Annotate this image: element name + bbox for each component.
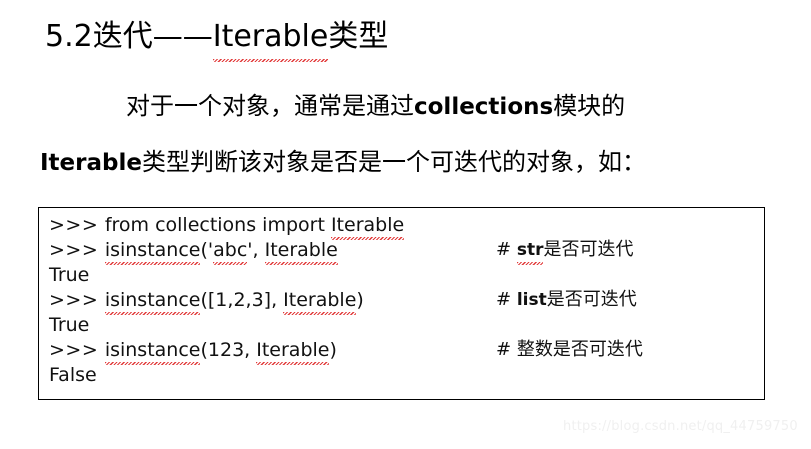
code-comment: # list是否可迭代 bbox=[496, 288, 637, 312]
code-comment: # str是否可迭代 bbox=[496, 238, 633, 262]
code-segment: ) bbox=[329, 339, 336, 361]
code-segment: (123, bbox=[200, 339, 256, 361]
code-segment-iterable: Iterable bbox=[256, 338, 329, 362]
page-title: 5.2迭代——Iterable类型 bbox=[45, 14, 388, 59]
code-segment-iterable: Iterable bbox=[283, 288, 356, 312]
comment-hash: # bbox=[496, 339, 511, 360]
page-title-segment-han-suffix: 类型 bbox=[328, 19, 388, 54]
code-segment-iterable: Iterable bbox=[265, 238, 338, 262]
body-line1-suffix: 模块的 bbox=[553, 92, 625, 120]
watermark: https://blog.csdn.net/qq_44759750 bbox=[563, 419, 798, 434]
comment-han-text: 整数是否可迭代 bbox=[517, 339, 643, 360]
code-prompt: >>> bbox=[49, 339, 105, 361]
code-output-true: True bbox=[49, 314, 89, 336]
code-segment-isinstance: isinstance bbox=[105, 288, 201, 312]
code-segment-iterable: Iterable bbox=[331, 213, 404, 237]
code-line: >>> isinstance(123, Iterable) bbox=[49, 338, 337, 362]
code-line: >>> isinstance('abc', Iterable bbox=[49, 238, 338, 262]
comment-keyword-str: str bbox=[517, 238, 544, 262]
page-title-segment-iterable: Iterable bbox=[213, 15, 329, 59]
comment-hash: # bbox=[496, 289, 511, 310]
body-line2-suffix: 类型判断该对象是否是一个可迭代的对象，如： bbox=[142, 148, 646, 176]
comment-keyword-list: list bbox=[517, 290, 547, 310]
comment-han-text: 是否可迭代 bbox=[543, 239, 633, 260]
code-line: >>> isinstance([1,2,3], Iterable) bbox=[49, 288, 364, 312]
code-segment: (' bbox=[200, 239, 213, 261]
code-segment: ', bbox=[247, 239, 264, 261]
code-prompt: >>> bbox=[49, 214, 105, 236]
page-title-segment-han-prefix: 迭代—— bbox=[93, 19, 213, 54]
code-block: >>> from collections import Iterable >>>… bbox=[38, 207, 765, 400]
code-line: True bbox=[49, 263, 89, 287]
code-output-false: False bbox=[49, 364, 97, 386]
body-line1-keyword-collections: collections bbox=[414, 94, 553, 120]
code-line: False bbox=[49, 363, 97, 387]
code-prompt: >>> bbox=[49, 289, 105, 311]
code-line: True bbox=[49, 313, 89, 337]
code-line: >>> from collections import Iterable bbox=[49, 213, 404, 237]
code-segment-isinstance: isinstance bbox=[105, 338, 201, 362]
code-segment: ([1,2,3], bbox=[200, 289, 283, 311]
code-segment: ) bbox=[356, 289, 363, 311]
code-segment-abc: abc bbox=[213, 238, 247, 262]
code-prompt: >>> bbox=[49, 239, 105, 261]
body-paragraph-line-1: 对于一个对象，通常是通过collections模块的 bbox=[126, 89, 625, 124]
code-output-true: True bbox=[49, 264, 89, 286]
body-paragraph-line-2: Iterable类型判断该对象是否是一个可迭代的对象，如： bbox=[40, 145, 646, 180]
comment-han-text: 是否可迭代 bbox=[547, 289, 637, 310]
code-segment-isinstance: isinstance bbox=[105, 238, 201, 262]
code-segment: from collections import bbox=[105, 214, 331, 236]
body-line1-prefix: 对于一个对象，通常是通过 bbox=[126, 92, 414, 120]
comment-hash: # bbox=[496, 239, 511, 260]
code-comment: # 整数是否可迭代 bbox=[496, 338, 643, 362]
body-line2-keyword-iterable: Iterable bbox=[40, 150, 142, 176]
page-title-segment-number: 5.2 bbox=[45, 19, 93, 54]
